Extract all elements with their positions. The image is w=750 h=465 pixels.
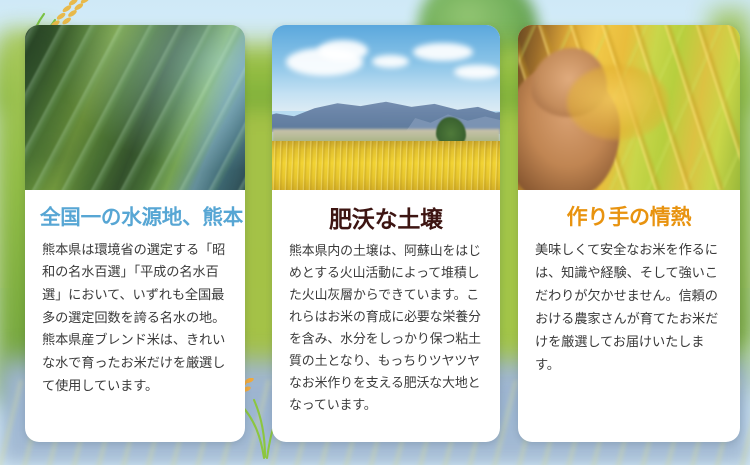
- feature-card-growers-passion[interactable]: 作り手の情熱 美味しくて安全なお米を作るには、知識や経験、そして強いこだわりが欠…: [518, 25, 740, 442]
- feature-card-water-source[interactable]: 全国一の水源地、熊本 熊本県は環境省の選定する「昭和の名水百選」「平成の名水百選…: [25, 25, 245, 442]
- card-body: 肥沃な土壌 熊本県内の土壌は、阿蘇山をはじめとする火山活動によって堆積した火山灰…: [272, 190, 500, 442]
- aso-mountain-rice-field-photo: [272, 25, 500, 190]
- card-title: 作り手の情熱: [535, 206, 723, 230]
- card-description: 美味しくて安全なお米を作るには、知識や経験、そして強いこだわりが欠かせません。信…: [535, 239, 723, 377]
- feature-card-fertile-soil[interactable]: 肥沃な土壌 熊本県内の土壌は、阿蘇山をはじめとする火山活動によって堆積した火山灰…: [272, 25, 500, 442]
- card-body: 作り手の情熱 美味しくて安全なお米を作るには、知識や経験、そして強いこだわりが欠…: [518, 190, 740, 442]
- aerial-green-waterway-photo: [25, 25, 245, 190]
- card-title: 全国一の水源地、熊本: [40, 206, 228, 230]
- card-title: 肥沃な土壌: [289, 206, 483, 232]
- feature-cards-stage: 全国一の水源地、熊本 熊本県は環境省の選定する「昭和の名水百選」「平成の名水百選…: [0, 0, 750, 465]
- hand-holding-rice-ears-photo: [518, 25, 740, 190]
- card-body: 全国一の水源地、熊本 熊本県は環境省の選定する「昭和の名水百選」「平成の名水百選…: [25, 190, 245, 442]
- card-description: 熊本県内の土壌は、阿蘇山をはじめとする火山活動によって堆積した火山灰層からできて…: [289, 240, 483, 416]
- card-description: 熊本県は環境省の選定する「昭和の名水百選」「平成の名水百選」において、いずれも全…: [42, 239, 228, 398]
- feature-card-list: 全国一の水源地、熊本 熊本県は環境省の選定する「昭和の名水百選」「平成の名水百選…: [0, 0, 750, 465]
